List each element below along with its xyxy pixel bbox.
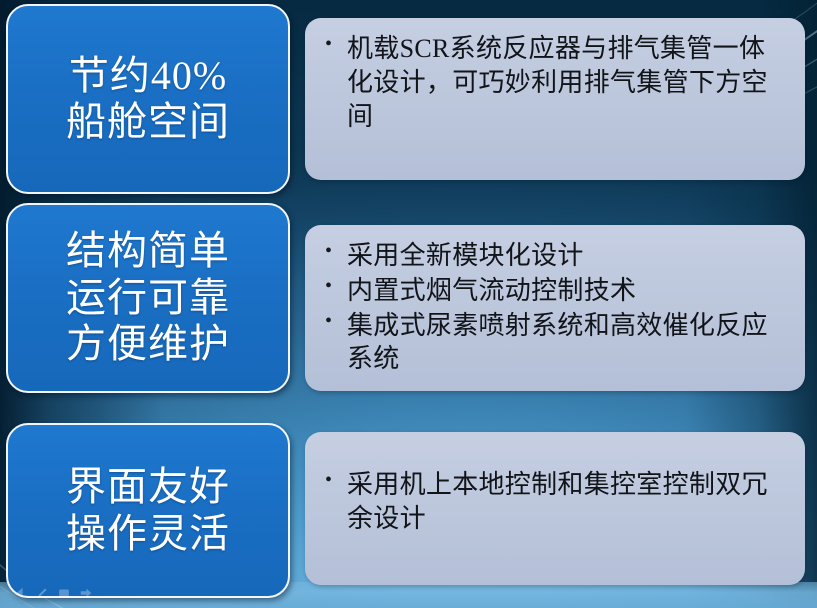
pen-icon[interactable]: [35, 586, 49, 600]
body-box-2[interactable]: 采用全新模块化设计 内置式烟气流动控制技术 集成式尿素喷射系统和高效催化反应系统: [305, 225, 805, 391]
caption-text-1: 节约40% 船舱空间: [60, 53, 236, 146]
content-row-1: 节约40% 船舱空间 机载SCR系统反应器与排气集管一体化设计，可巧妙利用排气集…: [0, 4, 817, 198]
bullet-item: 机载SCR系统反应器与排气集管一体化设计，可巧妙利用排气集管下方空间: [321, 32, 789, 133]
caption-text-2: 结构简单 运行可靠 方便维护: [60, 228, 236, 367]
caption-text-3: 界面友好 操作灵活: [60, 464, 236, 557]
bullet-item: 采用机上本地控制和集控室控制双冗余设计: [321, 468, 789, 536]
slide-canvas: 节约40% 船舱空间 机载SCR系统反应器与排气集管一体化设计，可巧妙利用排气集…: [0, 0, 817, 608]
bullet-item: 集成式尿素喷射系统和高效催化反应系统: [321, 309, 789, 377]
bullet-list-2: 采用全新模块化设计 内置式烟气流动控制技术 集成式尿素喷射系统和高效催化反应系统: [321, 239, 789, 376]
content-row-3: 界面友好 操作灵活 采用机上本地控制和集控室控制双冗余设计: [0, 430, 817, 602]
next-slide-icon[interactable]: [79, 586, 93, 600]
slide-menu-icon[interactable]: [57, 586, 71, 600]
presentation-toolbar[interactable]: [13, 586, 93, 600]
bullet-item: 内置式烟气流动控制技术: [321, 274, 789, 308]
previous-slide-icon[interactable]: [13, 586, 27, 600]
body-box-1[interactable]: 机载SCR系统反应器与排气集管一体化设计，可巧妙利用排气集管下方空间: [305, 18, 805, 180]
bullet-list-3: 采用机上本地控制和集控室控制双冗余设计: [321, 446, 789, 536]
content-row-2: 结构简单 运行可靠 方便维护 采用全新模块化设计 内置式烟气流动控制技术 集成式…: [0, 203, 817, 397]
caption-box-1[interactable]: 节约40% 船舱空间: [6, 4, 290, 194]
caption-box-2[interactable]: 结构简单 运行可靠 方便维护: [6, 203, 290, 393]
bullet-item: 采用全新模块化设计: [321, 239, 789, 273]
caption-box-3[interactable]: 界面友好 操作灵活: [6, 423, 290, 598]
bullet-list-1: 机载SCR系统反应器与排气集管一体化设计，可巧妙利用排气集管下方空间: [321, 32, 789, 133]
body-box-3[interactable]: 采用机上本地控制和集控室控制双冗余设计: [305, 432, 805, 585]
